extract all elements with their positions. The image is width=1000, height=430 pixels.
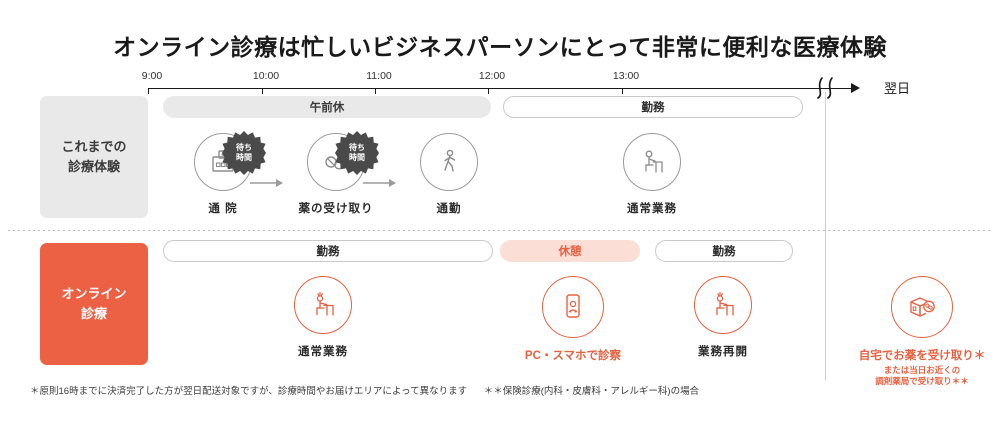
walking-person-icon — [420, 133, 478, 191]
page-title: オンライン診療は忙しいビジネスパーソンにとって非常に便利な医療体験 — [0, 28, 1000, 62]
node-label-online-normal-work: 通常業務 — [268, 343, 378, 359]
bar-online-work-1: 勤務 — [163, 240, 493, 262]
row-divider — [8, 230, 992, 231]
desk-worker-active-icon-2 — [694, 276, 752, 334]
axis-tick-label-4: 13:00 — [613, 70, 639, 82]
bar-legacy-morning-off: 午前休 — [163, 96, 491, 118]
row-label-legacy: これまでの 診療体験 — [40, 96, 148, 218]
node-label-commute: 通勤 — [394, 200, 504, 216]
timeline-axis — [148, 88, 853, 89]
row-label-online: オンライン 診療 — [40, 243, 148, 365]
node-sub-home-delivery-line1: または当日お近くの — [852, 365, 992, 376]
footnote-1: ＊原則16時までに決済完了した方が翌日配送対象ですが、診療時間やお届けエリアによ… — [30, 386, 467, 397]
node-online-resume-work: 業務再開 — [668, 276, 778, 359]
row2-label-line2: 診療 — [61, 304, 126, 324]
axis-tick-0 — [148, 88, 149, 94]
wait-badge-2-line2: 時間 — [349, 153, 365, 163]
node-label-online-resume-work: 業務再開 — [668, 343, 778, 359]
axis-tick-4 — [622, 88, 623, 94]
axis-tick-label-3: 12:00 — [479, 70, 505, 82]
bar-online-work-2: 勤務 — [655, 240, 793, 262]
axis-tick-3 — [488, 88, 489, 94]
row2-label-line1: オンライン — [61, 284, 126, 304]
wait-time-badge-2: 待ち 時間 — [335, 131, 379, 175]
node-label-home-delivery: 自宅でお薬を受け取り＊ — [852, 347, 992, 363]
node-label-online-consultation: PC・スマホで診察 — [518, 347, 628, 363]
axis-end-label: 翌日 — [884, 78, 910, 97]
axis-tick-1 — [262, 88, 263, 94]
smartphone-doctor-icon — [542, 276, 604, 338]
axis-break-icon — [812, 76, 842, 100]
axis-tick-label-1: 10:00 — [253, 70, 279, 82]
bar-legacy-work: 勤務 — [503, 96, 803, 118]
node-label-normal-work: 通常業務 — [597, 200, 707, 216]
wait-badge-2-line1: 待ち — [349, 143, 365, 153]
axis-tick-2 — [375, 88, 376, 94]
flow-arrow-2-icon — [363, 178, 397, 188]
node-online-home-delivery: 自宅でお薬を受け取り＊ または当日お近くの 調剤薬局で受け取り＊＊ — [852, 276, 992, 388]
node-legacy-normal-work: 通常業務 — [597, 133, 707, 216]
wait-time-badge-1: 待ち 時間 — [222, 131, 266, 175]
node-online-normal-work: 通常業務 — [268, 276, 378, 359]
node-label-medicine-pickup: 薬の受け取り — [281, 200, 391, 216]
axis-arrow-icon — [851, 83, 860, 93]
footnote-2: ＊＊保険診療(内科・皮膚科・アレルギー科)の場合 — [484, 386, 699, 397]
infographic-canvas: オンライン診療は忙しいビジネスパーソンにとって非常に便利な医療体験 9:00 1… — [0, 0, 1000, 430]
axis-tick-label-2: 11:00 — [366, 70, 392, 82]
axis-tick-label-0: 9:00 — [142, 70, 162, 82]
bar-online-break: 休憩 — [500, 240, 640, 262]
node-sub-home-delivery-line2: 調剤薬局で受け取り＊＊ — [852, 376, 992, 387]
footnotes: ＊原則16時までに決済完了した方が翌日配送対象ですが、診療時間やお届けエリアによ… — [30, 383, 790, 397]
row1-label-line1: これまでの — [61, 137, 126, 157]
desk-worker-icon — [623, 133, 681, 191]
delivery-box-icon — [891, 276, 953, 338]
next-day-vertical-rule — [825, 92, 826, 380]
node-legacy-commute: 通勤 — [394, 133, 504, 216]
node-label-clinic-visit: 通 院 — [168, 200, 278, 216]
row1-label-line2: 診療体験 — [61, 157, 126, 177]
flow-arrow-1-icon — [250, 178, 284, 188]
wait-badge-1-line2: 時間 — [236, 153, 252, 163]
wait-badge-1-line1: 待ち — [236, 143, 252, 153]
node-online-consultation: PC・スマホで診察 — [518, 276, 628, 363]
desk-worker-active-icon — [294, 276, 352, 334]
